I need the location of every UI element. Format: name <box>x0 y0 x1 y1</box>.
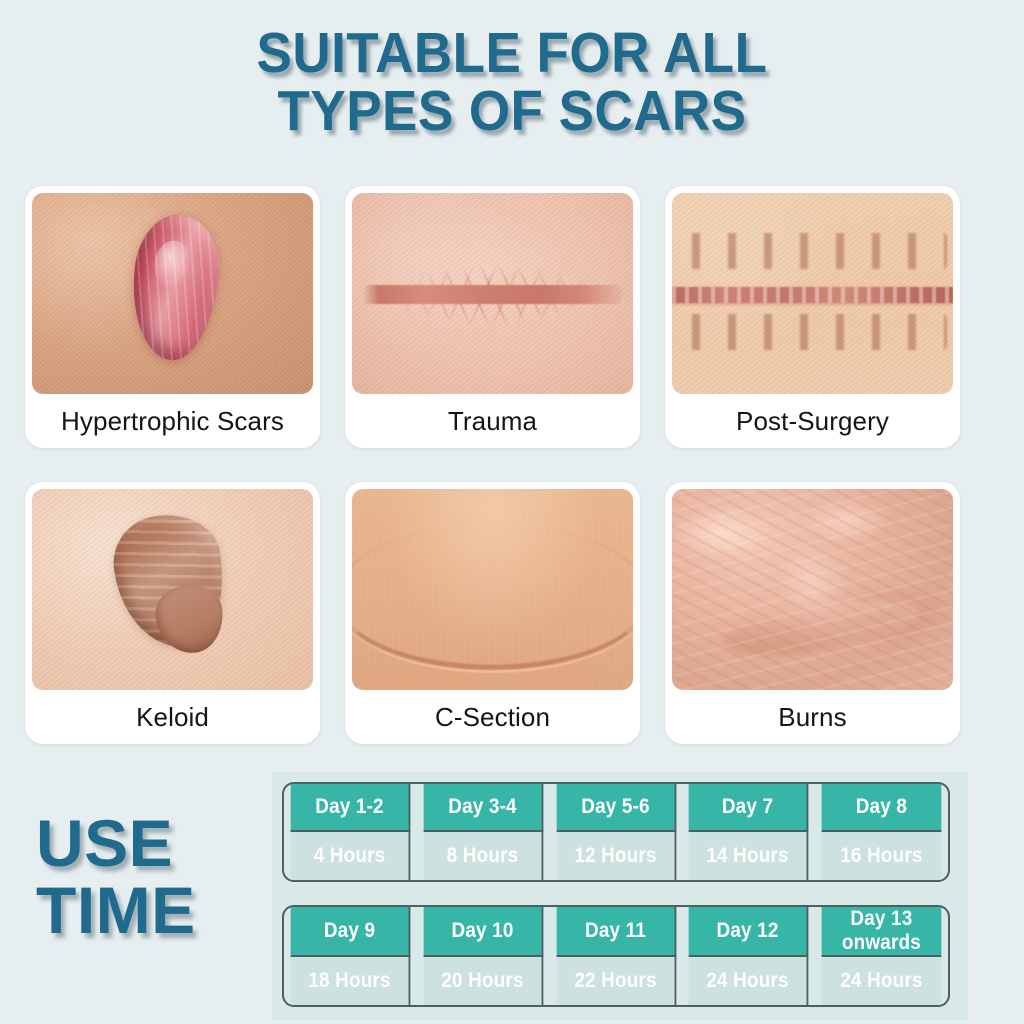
table-header-row: Day 9 Day 10 Day 11 Day 12 Day 13 onward… <box>284 907 948 957</box>
table-day-header: Day 7 <box>689 784 809 832</box>
table-day-header: Day 1-2 <box>291 784 411 832</box>
table-day-header: Day 5-6 <box>556 784 676 832</box>
use-time-heading-line-1: USE <box>36 806 173 880</box>
table-day-header: Day 9 <box>291 907 411 957</box>
use-time-table-days-1-8: Day 1-2 Day 3-4 Day 5-6 Day 7 Day 8 4 Ho… <box>282 782 950 882</box>
post-surgery-scar-photo <box>672 193 953 394</box>
page-title-line-1: SUITABLE FOR ALL <box>36 24 988 82</box>
page-title-line-2: TYPES OF SCARS <box>36 82 988 140</box>
scar-card-keloid[interactable]: Keloid <box>25 482 320 744</box>
table-day-header: Day 13 onwards <box>822 907 942 957</box>
table-hours-cell: 14 Hours <box>689 832 809 880</box>
use-time-heading-line-2: TIME <box>36 877 266 944</box>
table-hours-cell: 20 Hours <box>423 957 543 1005</box>
table-header-row: Day 1-2 Day 3-4 Day 5-6 Day 7 Day 8 <box>284 784 948 832</box>
scar-card-hypertrophic[interactable]: Hypertrophic Scars <box>25 186 320 448</box>
scar-card-caption: Keloid <box>32 690 313 744</box>
table-row: 4 Hours 8 Hours 12 Hours 14 Hours 16 Hou… <box>284 832 948 880</box>
use-time-heading: USE TIME <box>36 810 266 945</box>
table-day-header: Day 11 <box>556 907 676 957</box>
table-row: 18 Hours 20 Hours 22 Hours 24 Hours 24 H… <box>284 957 948 1005</box>
page-title: SUITABLE FOR ALL TYPES OF SCARS <box>0 0 1024 140</box>
scar-type-grid: Hypertrophic Scars Trauma Post-Surgery K… <box>25 186 975 744</box>
trauma-scar-photo <box>352 193 633 394</box>
table-day-header: Day 8 <box>822 784 942 832</box>
table-hours-cell: 24 Hours <box>822 957 942 1005</box>
table-day-header: Day 12 <box>689 907 809 957</box>
table-hours-cell: 12 Hours <box>556 832 676 880</box>
table-hours-cell: 16 Hours <box>822 832 942 880</box>
scar-card-burns[interactable]: Burns <box>665 482 960 744</box>
table-day-header: Day 10 <box>423 907 543 957</box>
hypertrophic-scar-photo <box>32 193 313 394</box>
use-time-table-days-9-13: Day 9 Day 10 Day 11 Day 12 Day 13 onward… <box>282 905 950 1007</box>
scar-card-caption: Post-Surgery <box>672 394 953 448</box>
scar-card-caption: Burns <box>672 690 953 744</box>
table-hours-cell: 18 Hours <box>291 957 411 1005</box>
scar-card-caption: Trauma <box>352 394 633 448</box>
keloid-scar-photo <box>32 489 313 690</box>
burn-scar-photo <box>672 489 953 690</box>
scar-card-post-surgery[interactable]: Post-Surgery <box>665 186 960 448</box>
table-hours-cell: 4 Hours <box>291 832 411 880</box>
c-section-scar-photo <box>352 489 633 690</box>
table-hours-cell: 24 Hours <box>689 957 809 1005</box>
scar-card-c-section[interactable]: C-Section <box>345 482 640 744</box>
table-hours-cell: 8 Hours <box>423 832 543 880</box>
scar-card-caption: Hypertrophic Scars <box>32 394 313 448</box>
table-day-header: Day 3-4 <box>423 784 543 832</box>
table-hours-cell: 22 Hours <box>556 957 676 1005</box>
scar-card-trauma[interactable]: Trauma <box>345 186 640 448</box>
scar-card-caption: C-Section <box>352 690 633 744</box>
